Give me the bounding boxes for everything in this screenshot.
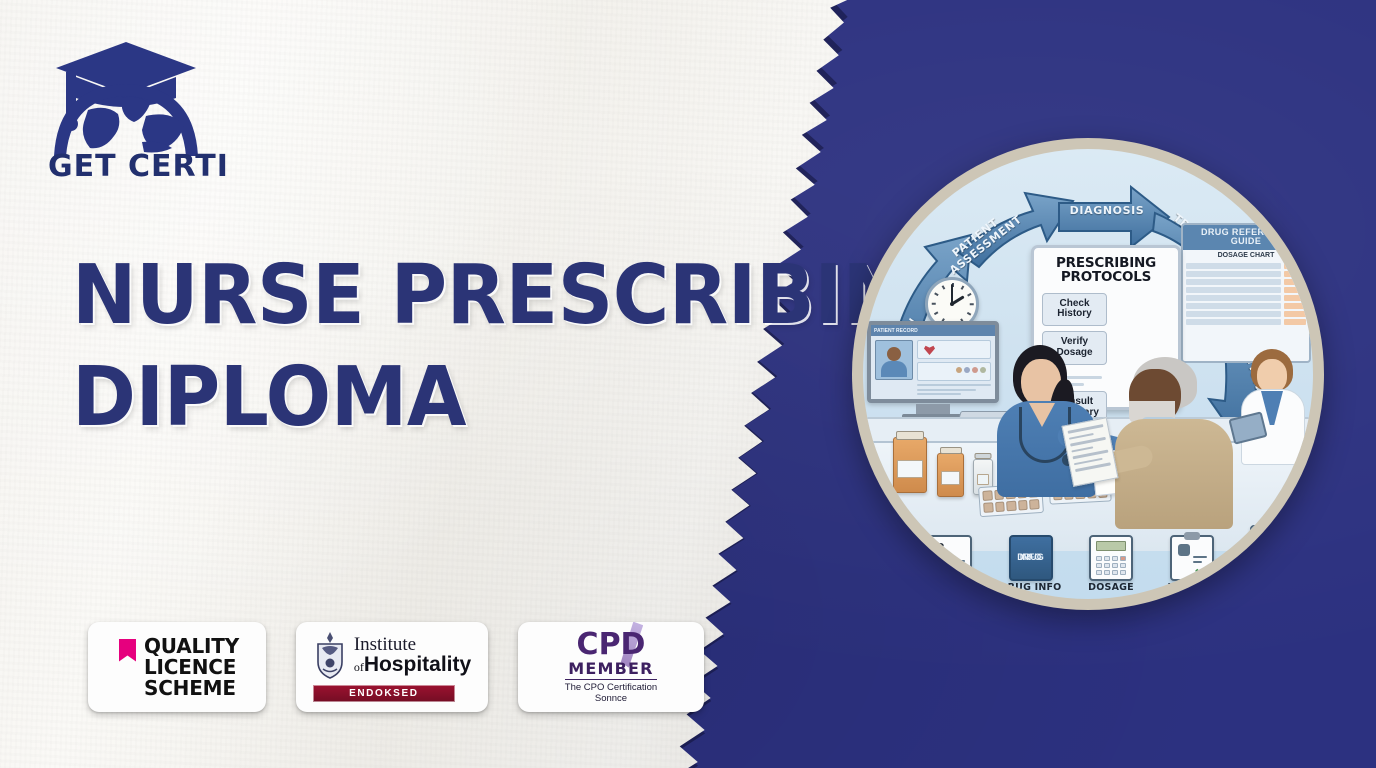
monitor-card-medications — [917, 362, 991, 381]
book-icon: DRUG INFO — [1009, 535, 1053, 581]
hero-title-block: NURSE PRESCRIBING DIPLOMA — [72, 256, 802, 439]
monitor-card-diagnosis — [917, 340, 991, 359]
icon-item-review[interactable]: REVIEW SCHEDULE — [1241, 525, 1303, 593]
icon-label-prescription: PRESCRIPTION — [919, 583, 981, 593]
cpd-title: CPD — [565, 630, 657, 660]
heart-icon — [924, 345, 935, 355]
drug-chart-title-2: GUIDE — [1183, 237, 1309, 246]
page-title-line-1: NURSE PRESCRIBING — [72, 256, 758, 336]
icon-label-dosage: DOSAGE — [1080, 583, 1142, 593]
icon-item-drug-info[interactable]: DRUG INFO DRUG INFO — [1000, 535, 1062, 593]
page-title-line-2: DIPLOMA — [72, 358, 758, 438]
icon-label-history: HISTORY — [1161, 583, 1223, 593]
crest-shield-icon — [313, 632, 347, 680]
protocol-button-check-history[interactable]: Check History — [1042, 293, 1107, 327]
protocol-title-line-2: PROTOCOLS — [1042, 271, 1170, 285]
qls-line-3: SCHEME — [144, 678, 239, 699]
accreditation-badges: QUALITY LICENCE SCHEME Institute ofHos — [88, 622, 704, 712]
clipboard-check-icon — [1170, 535, 1214, 581]
qls-line-2: LICENCE — [144, 657, 239, 678]
drug-chart-subtitle: DOSAGE CHART — [1183, 250, 1309, 261]
bookmark-icon — [119, 639, 136, 662]
badge-institute-of-hospitality[interactable]: Institute ofHospitality ENDOKSED — [296, 622, 488, 712]
monitor-header: PATIENT RECORD — [874, 328, 918, 334]
book-text-2: INFO — [1011, 537, 1051, 579]
calendar-icon — [1250, 525, 1294, 571]
badge-cpd-member[interactable]: CPD MEMBER The CPO Certification Sonnce — [518, 622, 704, 712]
rx-document-icon: Rx — [928, 535, 972, 581]
badge-quality-licence-scheme[interactable]: QUALITY LICENCE SCHEME — [88, 622, 266, 712]
pill-bottle-medium — [937, 453, 964, 497]
icon-item-history[interactable]: HISTORY — [1161, 535, 1223, 593]
graduation-cap-globe-icon: GET CERTIFY — [26, 24, 226, 184]
ioh-endorsed-banner: ENDOKSED — [313, 685, 455, 702]
qls-line-1: QUALITY — [144, 636, 239, 657]
brand-logo[interactable]: GET CERTIFY — [26, 24, 226, 184]
calculator-icon — [1089, 535, 1133, 581]
patient-record-monitor: PATIENT RECORD — [867, 321, 999, 421]
workflow-label-diagnosis: DIAGNOSIS — [1069, 205, 1145, 217]
drug-reference-guide-chart: DRUG REFERENCE GUIDE DOSAGE CHART — [1181, 223, 1311, 363]
cpd-tagline-2: Sonnce — [565, 694, 657, 705]
brand-logo-text: GET CERTIFY — [48, 149, 226, 184]
cpd-member-label: MEMBER — [565, 659, 657, 680]
workflow-icon-row: Rx PRESCRIPTION DRUG INFO DRUG INFO — [919, 525, 1303, 593]
elderly-patient-figure — [1115, 357, 1235, 529]
icon-item-dosage[interactable]: DOSAGE — [1080, 535, 1142, 593]
icon-label-drug-info: DRUG INFO — [1000, 583, 1062, 593]
icon-sublabel-review: SCHEDULE — [1241, 583, 1303, 593]
cpd-tagline-1: The CPO Certification — [565, 683, 657, 694]
pill-bottle-large — [893, 437, 927, 493]
ioh-of: of — [354, 660, 364, 674]
workflow-illustration-circle: REVIEW PATIENT ASSESSMENT DIAGNOSIS TREA… — [852, 138, 1324, 610]
ioh-line-2: Hospitality — [364, 653, 471, 676]
pills-icon — [956, 367, 986, 373]
clinician-figure — [1235, 349, 1311, 469]
patient-photo — [875, 340, 913, 380]
icon-item-prescription[interactable]: Rx PRESCRIPTION — [919, 535, 981, 593]
ioh-line-1: Institute — [354, 635, 416, 654]
